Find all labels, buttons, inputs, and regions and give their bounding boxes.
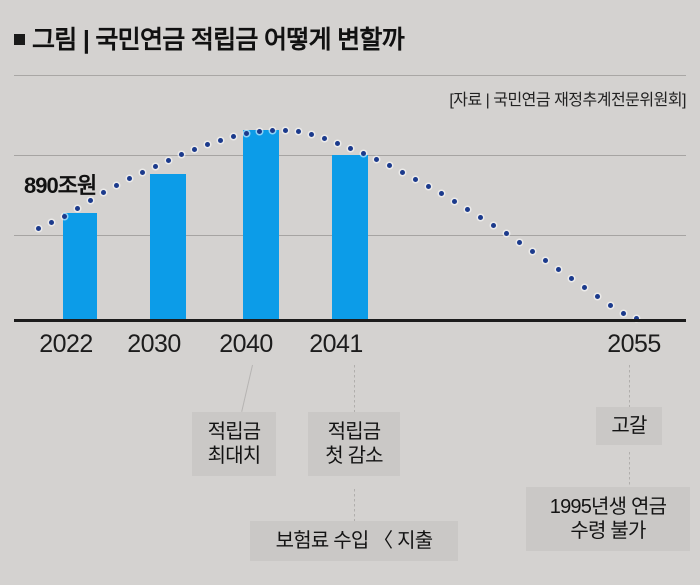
trend-dot	[348, 146, 353, 151]
trend-dot	[556, 267, 561, 272]
trend-dot	[127, 176, 132, 181]
trend-dot	[192, 147, 197, 152]
source-credit: [자료 | 국민연금 재정추계전문위원회]	[449, 86, 686, 110]
connector-2041-upper	[354, 365, 355, 413]
trend-dot	[361, 151, 366, 156]
axis-tick-2040: 2040	[206, 330, 286, 359]
callout-depletion: 고갈	[596, 407, 662, 445]
trend-dot	[595, 294, 600, 299]
trend-dot	[49, 220, 54, 225]
plot-area: 890조원	[14, 120, 686, 325]
trend-dot	[400, 170, 405, 175]
trend-dot	[114, 183, 119, 188]
trend-dot	[543, 258, 548, 263]
connector-2040	[241, 365, 253, 412]
trend-dot	[140, 170, 145, 175]
chart-title-row: 그림 | 국민연금 적립금 어떻게 변할까	[14, 20, 404, 56]
bar-2030	[150, 174, 186, 320]
trend-dot	[153, 164, 158, 169]
trend-dot	[621, 311, 626, 316]
trend-dot	[530, 249, 535, 254]
connector-2055-lower	[629, 452, 630, 487]
square-bullet-icon	[14, 34, 25, 45]
callout-no-pension-1995-line1: 1995년생 연금	[550, 495, 666, 519]
callout-peak: 적립금 최대치	[192, 412, 276, 476]
value-label-2022: 890조원	[24, 168, 96, 200]
trend-dot	[231, 134, 236, 139]
trend-dot	[270, 128, 275, 133]
trend-dot	[569, 276, 574, 281]
bar-2040	[243, 130, 279, 320]
trend-dot	[296, 129, 301, 134]
callout-peak-line2: 최대치	[208, 444, 261, 468]
trend-dot	[257, 129, 262, 134]
infographic-canvas: 그림 | 국민연금 적립금 어떻게 변할까 [자료 | 국민연금 재정추계전문위…	[0, 0, 700, 585]
connector-2055-upper	[629, 365, 630, 407]
axis-tick-2022: 2022	[26, 330, 106, 359]
trend-dot	[335, 141, 340, 146]
callout-depletion-line1: 고갈	[611, 414, 646, 438]
axis-tick-2030: 2030	[114, 330, 194, 359]
trend-dot	[452, 199, 457, 204]
callout-income-less-expense-line1: 보험료 수입 〈 지출	[276, 529, 433, 553]
axis-tick-2041: 2041	[296, 330, 376, 359]
trend-dot	[608, 303, 613, 308]
trend-dot	[478, 215, 483, 220]
trend-dot	[283, 128, 288, 133]
connector-2041-lower	[354, 489, 355, 521]
trend-dot	[309, 132, 314, 137]
callout-peak-line1: 적립금	[208, 420, 261, 444]
trend-dot	[439, 191, 444, 196]
trend-dot	[75, 206, 80, 211]
trend-dot	[465, 207, 470, 212]
trend-dot	[387, 163, 392, 168]
trend-dot	[426, 184, 431, 189]
trend-dot	[62, 214, 67, 219]
trend-dot	[36, 226, 41, 231]
callout-no-pension-1995-line2: 수령 불가	[570, 519, 645, 543]
x-axis-line	[14, 319, 686, 322]
trend-dot	[218, 138, 223, 143]
trend-dot	[491, 223, 496, 228]
trend-dot	[413, 177, 418, 182]
axis-tick-2055: 2055	[594, 330, 674, 359]
trend-dot	[322, 136, 327, 141]
trend-dot	[374, 157, 379, 162]
trend-dot	[504, 231, 509, 236]
bar-2041	[332, 155, 368, 320]
trend-dot	[101, 190, 106, 195]
callout-first-decline-line2: 첫 감소	[325, 444, 383, 468]
header-divider	[14, 75, 686, 76]
callout-first-decline-line1: 적립금	[328, 420, 381, 444]
bar-2022	[63, 213, 97, 320]
callout-income-less-expense: 보험료 수입 〈 지출	[250, 521, 458, 561]
trend-dot	[166, 158, 171, 163]
trend-dot	[517, 240, 522, 245]
callout-first-decline: 적립금 첫 감소	[308, 412, 400, 476]
trend-dot	[88, 198, 93, 203]
callout-no-pension-1995: 1995년생 연금 수령 불가	[526, 487, 690, 551]
trend-dot	[244, 131, 249, 136]
trend-dot	[179, 152, 184, 157]
trend-dot	[582, 285, 587, 290]
page-title: 그림 | 국민연금 적립금 어떻게 변할까	[32, 20, 404, 56]
trend-dot	[205, 142, 210, 147]
